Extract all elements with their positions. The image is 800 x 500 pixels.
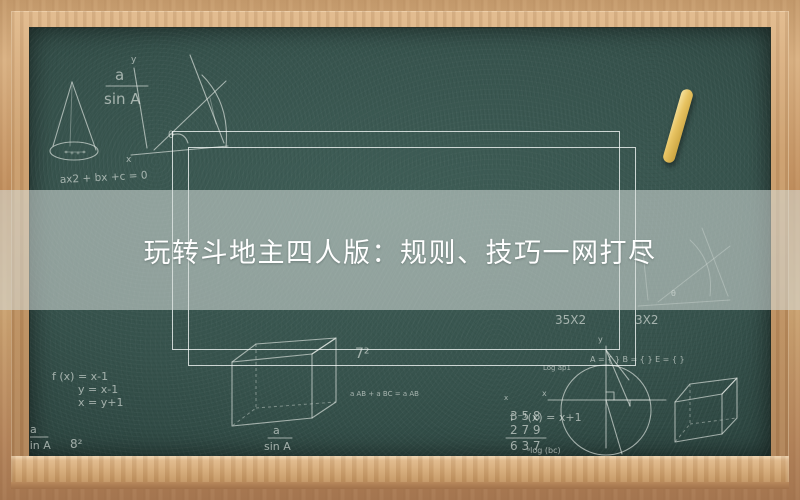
chalk-fraction-a: a [115, 66, 124, 84]
chalk-frac4-sinA: sin A [264, 440, 291, 453]
chalk-digits-row3: 6 3 7 [510, 439, 541, 453]
chalk-frac3-a: a [30, 423, 37, 436]
chalk-fraction-sinA: sin A [104, 90, 141, 108]
chalk-frac4-a: a [273, 424, 280, 437]
page-title: 玩转斗地主四人版：规则、技巧一网打尽 [144, 231, 657, 270]
chalk-frac3-sinA: sin A [30, 439, 51, 452]
chalk-fn-line1: f (x) = x-1 [52, 370, 108, 383]
chalk-axis-y: y [131, 55, 137, 65]
chalk-eight-squared: 8² [70, 437, 83, 451]
chalk-inverse-fn: f ⁻¹(x) = x+1 [510, 411, 582, 424]
chalk-digits-row2: 2 7 9 [510, 423, 541, 437]
chalk-faint-equation: a AB + a BC = a AB [350, 390, 419, 398]
blackboard-cover: a sin A y x θ ax2 + bx +c = 0 θ [0, 0, 800, 500]
chalk-axis-x-right: x [542, 389, 547, 398]
chalk-quadratic-equation: ax2 + bx +c = 0 [60, 169, 148, 186]
chalk-digits-row1: 3 5 8 [510, 409, 541, 423]
chalk-3x2: 3X2 [635, 313, 659, 327]
chalk-fn-line2: y = x-1 [78, 383, 118, 396]
title-band: 玩转斗地主四人版：规则、技巧一网打尽 [0, 190, 800, 310]
ledge-lip [11, 482, 789, 489]
chalk-fn-line3: x = y+1 [78, 396, 123, 409]
chalk-digit-x: x [504, 394, 508, 402]
chalk-log-bc: ᵃlog (bc) [527, 446, 561, 455]
chalk-axis-x: x [126, 155, 132, 165]
